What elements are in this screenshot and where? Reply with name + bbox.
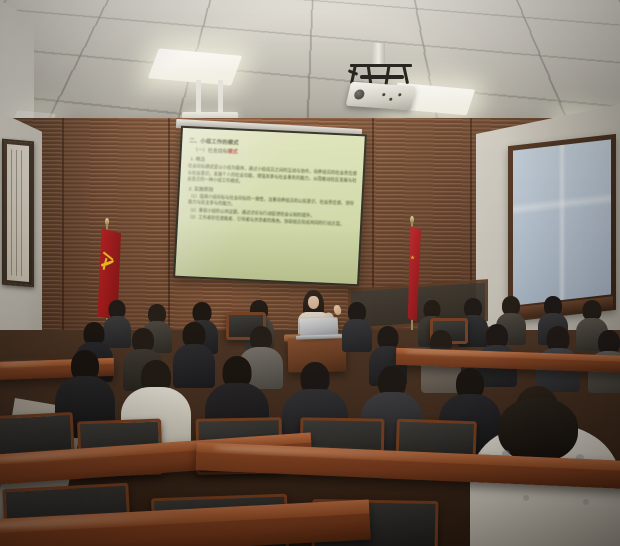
- framed-calligraphy-scroll: [2, 139, 34, 288]
- projector-lens-icon: [353, 89, 365, 100]
- classroom-photo: 二、小组工作的模式 （一）社会目标模式 1. 概念 社会目标模式是以小组为载体，…: [0, 0, 620, 546]
- side-window: [508, 134, 616, 322]
- light-hanger-right: [218, 80, 223, 114]
- light-hanger-left: [196, 80, 201, 114]
- calligraphy-paper: [7, 144, 29, 282]
- ceiling-projector: [346, 82, 417, 111]
- projection-screen: 二、小组工作的模式 （一）社会目标模式 1. 概念 社会目标模式是以小组为载体，…: [175, 128, 365, 284]
- projection-screen-frame: 二、小组工作的模式 （一）社会目标模式 1. 概念 社会目标模式是以小组为载体，…: [173, 126, 367, 287]
- hammer-sickle-icon: [100, 252, 116, 276]
- window-roller-blind[interactable]: [513, 139, 611, 305]
- presenter-face: [308, 296, 319, 309]
- slide-content: 二、小组工作的模式 （一）社会目标模式 1. 概念 社会目标模式是以小组为载体，…: [182, 136, 358, 280]
- list-item: [344, 302, 370, 348]
